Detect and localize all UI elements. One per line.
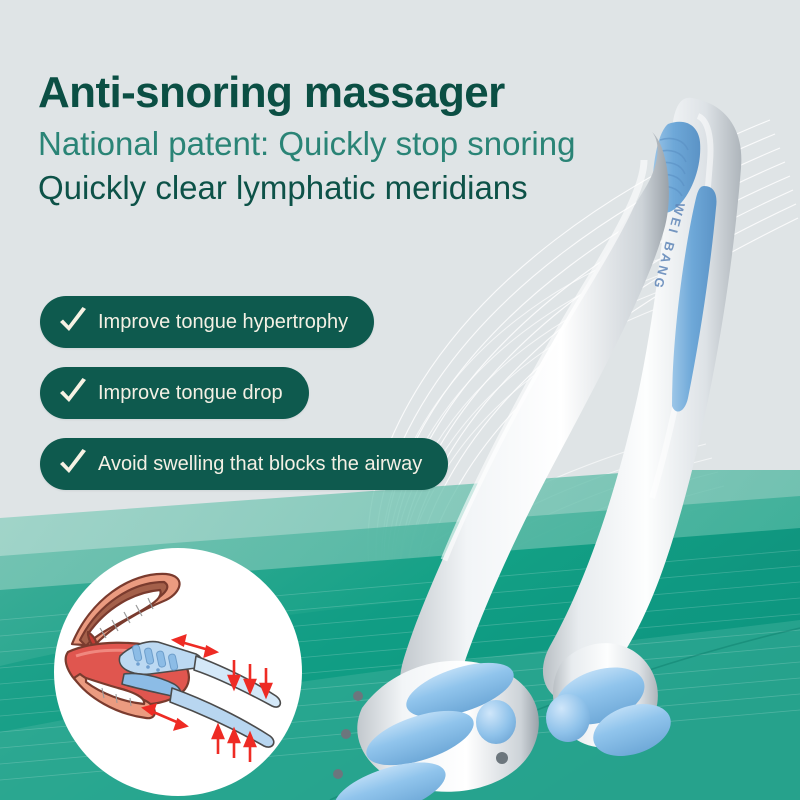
check-icon [56, 305, 90, 339]
feature-list: Improve tongue hypertrophy Improve tongu… [40, 296, 448, 490]
check-icon [56, 447, 90, 481]
feature-pill-label-1: Improve tongue hypertrophy [98, 312, 348, 332]
feature-pill-label-3: Avoid swelling that blocks the airway [98, 454, 422, 474]
mouth-illustration [54, 548, 302, 796]
roller-head-rear [546, 643, 677, 765]
feature-pill-label-2: Improve tongue drop [98, 383, 283, 403]
feature-pill-3[interactable]: Avoid swelling that blocks the airway [40, 438, 448, 490]
ad-poster: Anti-snoring massager National patent: Q… [0, 0, 800, 800]
feature-pill-2[interactable]: Improve tongue drop [40, 367, 309, 419]
feature-pill-1[interactable]: Improve tongue hypertrophy [40, 296, 374, 348]
pivot-pin-4 [496, 752, 508, 764]
pivot-pin-1 [353, 691, 363, 701]
pivot-pin-3 [333, 769, 343, 779]
roller-rear-cap [546, 694, 590, 742]
subtitle-patent: National patent: Quickly stop snoring [38, 125, 698, 163]
roller-front-cap [476, 700, 516, 744]
subtitle-lymphatic: Quickly clear lymphatic meridians [38, 169, 698, 207]
pivot-pin-2 [341, 729, 351, 739]
headline-block: Anti-snoring massager National patent: Q… [38, 68, 698, 207]
roller-head-front [328, 652, 539, 800]
page-title: Anti-snoring massager [38, 68, 698, 117]
check-icon [56, 376, 90, 410]
